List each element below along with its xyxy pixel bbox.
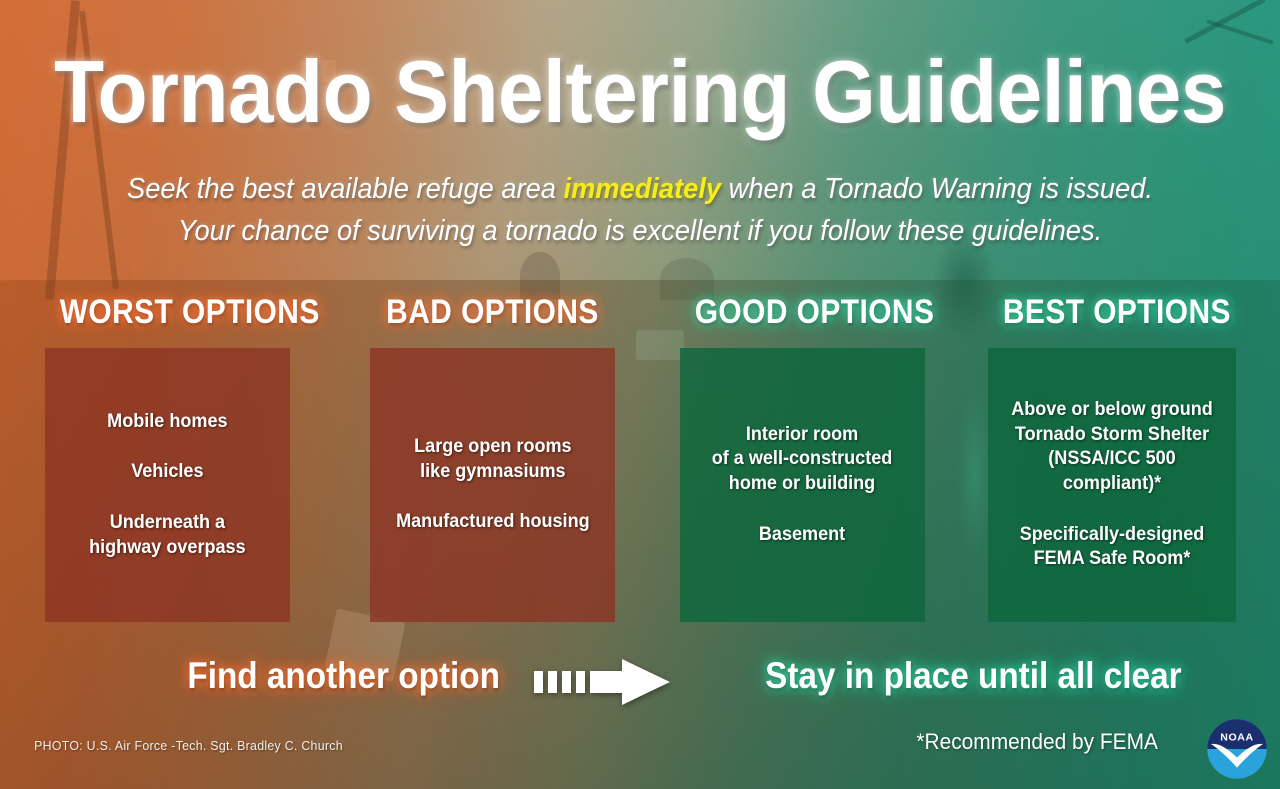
page-title: Tornado Sheltering Guidelines [45,48,1235,136]
panel-best-text: Above or below ground Tornado Storm Shel… [1002,398,1222,572]
column-heading-bad: BAD OPTIONS [385,293,601,332]
panel-bad-text: Large open rooms like gymnasiums Manufac… [396,435,590,535]
panel-best-options: Above or below ground Tornado Storm Shel… [988,348,1236,622]
column-heading-worst: WORST OPTIONS [60,293,276,332]
subtitle-line1-before: Seek the best available refuge area [127,173,563,205]
photo-credit: PHOTO: U.S. Air Force -Tech. Sgt. Bradle… [34,738,343,753]
subtitle: Seek the best available refuge area imme… [38,168,1241,252]
fema-recommendation-note: *Recommended by FEMA [916,729,1158,755]
noaa-logo-text: NOAA [1220,731,1254,743]
option-item: Specifically-designed FEMA Safe Room* [1002,523,1222,572]
arrow-right-icon [534,658,674,706]
subtitle-line-2: Your chance of surviving a tornado is ex… [38,210,1241,252]
infographic-poster: Tornado Sheltering Guidelines Seek the b… [0,0,1280,789]
option-item: Large open rooms like gymnasiums [396,435,590,484]
option-item: Interior room of a well-constructed home… [712,423,893,497]
panel-worst-options: Mobile homes Vehicles Underneath a highw… [45,348,290,622]
option-item: Vehicles [89,460,245,485]
option-item: Mobile homes [89,410,245,435]
panel-good-text: Interior room of a well-constructed home… [712,423,893,548]
option-item: Basement [712,523,893,548]
subtitle-line1-after: when a Tornado Warning is issued. [721,173,1153,205]
banner-find-another-option: Find another option [187,655,500,697]
panel-bad-options: Large open rooms like gymnasiums Manufac… [370,348,615,622]
option-item: Above or below ground Tornado Storm Shel… [1002,398,1222,497]
option-item: Manufactured housing [396,510,590,535]
column-heading-best: BEST OPTIONS [1003,293,1221,332]
panel-worst-text: Mobile homes Vehicles Underneath a highw… [89,410,245,561]
subtitle-highlight-immediately: immediately [563,173,721,205]
subtitle-line-1: Seek the best available refuge area imme… [38,168,1241,210]
noaa-logo: NOAA [1206,718,1268,780]
panel-good-options: Interior room of a well-constructed home… [680,348,925,622]
banner-stay-in-place: Stay in place until all clear [765,655,1181,697]
option-item: Underneath a highway overpass [89,511,245,560]
column-heading-good: GOOD OPTIONS [695,293,911,332]
